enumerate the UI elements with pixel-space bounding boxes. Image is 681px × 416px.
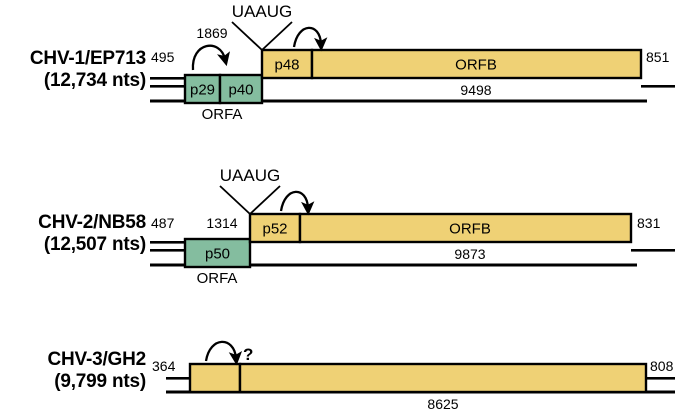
genome-line-right-chv1 (641, 85, 675, 88)
orfb-box-label-main-chv2: ORFB (449, 221, 491, 238)
orfb-box-label-main-chv1: ORFB (455, 57, 497, 74)
orfa-end-coord-chv1: 1869 (196, 25, 227, 41)
orfb-box-label-p48: p48 (274, 57, 299, 74)
uaaug-label-chv1: UAAUG (232, 2, 292, 21)
orfa-box-label-p29: p29 (190, 82, 215, 99)
uaaug-connector-chv1 (232, 22, 292, 50)
genome-diagram: p29 p40 ORFA p48 ORFB 9498 495 851 1869 (0, 0, 681, 416)
uaaug-connector-chv2 (220, 186, 280, 214)
question-mark-chv3: ? (243, 345, 253, 364)
five-prime-coord-chv1: 495 (151, 49, 175, 65)
genome-line-left-chv3 (166, 377, 190, 380)
orfb-group-chv1: p48 ORFB 9498 (262, 50, 641, 98)
orfb-readthrough-arrow-chv1 (294, 28, 321, 47)
orfa-box-label-p50: p50 (205, 246, 230, 263)
genome-line-left-chv2 (150, 241, 185, 252)
genome-line-right-chv3 (646, 377, 675, 380)
orfa-end-coord-chv2: 1314 (206, 215, 237, 231)
orfa-label-chv1: ORFA (202, 106, 243, 123)
orfb-box-main-chv3 (240, 364, 646, 392)
orfb-box-label-p52: p52 (262, 221, 287, 238)
genome-line-right-chv2 (631, 249, 675, 252)
orfb-readthrough-arrow-chv3 (206, 342, 236, 361)
five-prime-coord-chv3: 364 (152, 358, 176, 374)
orfb-group-chv3: 8625 (190, 364, 646, 412)
orfb-length-chv2: 9873 (454, 246, 485, 262)
genome-row-chv3: 8625 364 808 ? (152, 342, 675, 412)
orfa-group-chv1: p29 p40 ORFA (185, 75, 262, 123)
three-prime-coord-chv3: 808 (650, 358, 674, 374)
orfa-box-label-p40: p40 (228, 82, 253, 99)
orfa-label-chv2: ORFA (197, 270, 238, 287)
uaaug-label-chv2: UAAUG (220, 166, 280, 185)
genome-line-left-chv1 (150, 77, 185, 88)
orfb-group-chv2: p52 ORFB 9873 (250, 214, 631, 262)
three-prime-coord-chv2: 831 (637, 215, 661, 231)
genome-row-chv1: p29 p40 ORFA p48 ORFB 9498 495 851 1869 (150, 0, 675, 123)
orfb-box-left-chv3 (190, 364, 240, 392)
three-prime-coord-chv1: 851 (646, 49, 670, 65)
genome-row-chv2: p50 ORFA p52 ORFB 9873 487 831 1314 UAAU… (150, 166, 675, 287)
orfa-group-chv2: p50 ORFA (185, 239, 250, 287)
orfb-readthrough-arrow-chv2 (281, 192, 308, 211)
five-prime-coord-chv2: 487 (151, 215, 175, 231)
orfa-frameshift-arrow-chv1-b (193, 46, 225, 70)
orfb-length-chv1: 9498 (460, 82, 491, 98)
orfb-length-chv3: 8625 (427, 396, 458, 412)
figure-canvas: CHV-1/EP713 (12,734 nts) CHV-2/NB58 (12,… (0, 0, 681, 416)
